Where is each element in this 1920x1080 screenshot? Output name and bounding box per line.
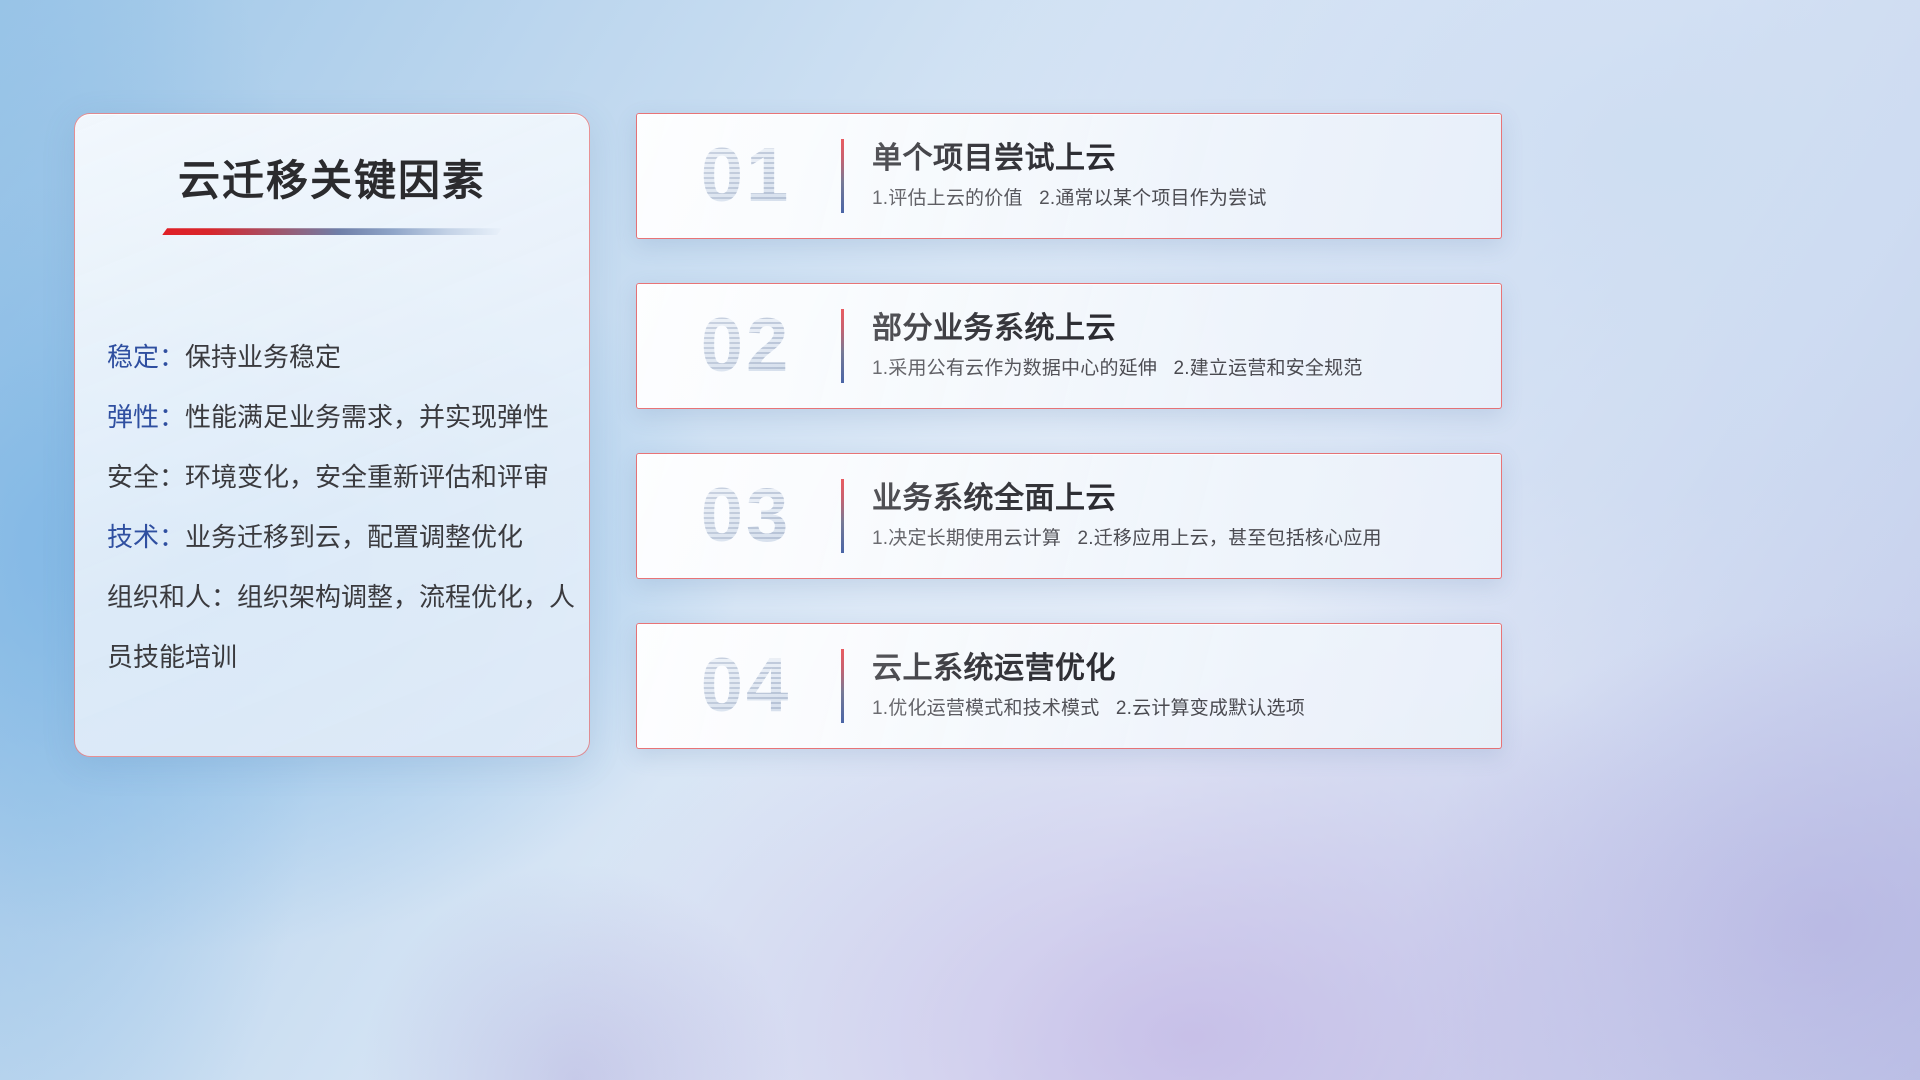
title-underline-rule [162,228,502,235]
step-card-04[interactable]: 04 云上系统运营优化 1.优化运营模式和技术模式 2.云计算变成默认选项 [636,623,1502,749]
factor-label: 组织和人： [107,582,237,612]
step-text-block: 业务系统全面上云 1.决定长期使用云计算 2.迁移应用上云，甚至包括核心应用 [872,480,1501,551]
step-title: 云上系统运营优化 [872,650,1483,688]
factor-list: 稳定：保持业务稳定 弹性：性能满足业务需求，并实现弹性 安全：环境变化，安全重新… [75,235,589,687]
step-text-block: 单个项目尝试上云 1.评估上云的价值 2.通常以某个项目作为尝试 [872,140,1501,211]
factor-label: 安全： [107,462,185,492]
step-description: 1.决定长期使用云计算 2.迁移应用上云，甚至包括核心应用 [872,527,1483,552]
step-title: 部分业务系统上云 [872,310,1483,348]
step-description: 1.优化运营模式和技术模式 2.云计算变成默认选项 [872,697,1483,722]
list-item: 稳定：保持业务稳定 [107,327,589,387]
step-title: 单个项目尝试上云 [872,140,1483,178]
factor-value: 业务迁移到云，配置调整优化 [185,522,523,552]
factor-label: 弹性： [107,402,185,432]
step-number: 01 [651,138,841,214]
step-text-block: 部分业务系统上云 1.采用公有云作为数据中心的延伸 2.建立运营和安全规范 [872,310,1501,381]
factor-value: 性能满足业务需求，并实现弹性 [185,402,549,432]
step-divider [841,649,844,723]
factor-label: 稳定： [107,342,185,372]
factor-label: 技术： [107,522,185,552]
step-number: 03 [651,478,841,554]
list-item: 组织和人：组织架构调整，流程优化，人员技能培训 [107,567,589,687]
step-number: 04 [651,648,841,724]
key-factors-panel: 云迁移关键因素 稳定：保持业务稳定 弹性：性能满足业务需求，并实现弹性 安全：环… [74,113,590,757]
list-item: 安全：环境变化，安全重新评估和评审 [107,447,589,507]
step-card-02[interactable]: 02 部分业务系统上云 1.采用公有云作为数据中心的延伸 2.建立运营和安全规范 [636,283,1502,409]
step-description: 1.采用公有云作为数据中心的延伸 2.建立运营和安全规范 [872,357,1483,382]
list-item: 技术：业务迁移到云，配置调整优化 [107,507,589,567]
step-text-block: 云上系统运营优化 1.优化运营模式和技术模式 2.云计算变成默认选项 [872,650,1501,721]
step-description: 1.评估上云的价值 2.通常以某个项目作为尝试 [872,187,1483,212]
factor-value: 保持业务稳定 [185,342,341,372]
step-card-03[interactable]: 03 业务系统全面上云 1.决定长期使用云计算 2.迁移应用上云，甚至包括核心应… [636,453,1502,579]
page-title: 云迁移关键因素 [75,114,589,205]
step-divider [841,479,844,553]
migration-steps-list: 01 单个项目尝试上云 1.评估上云的价值 2.通常以某个项目作为尝试 02 部… [636,113,1502,793]
step-title: 业务系统全面上云 [872,480,1483,518]
step-divider [841,309,844,383]
step-number: 02 [651,308,841,384]
step-card-01[interactable]: 01 单个项目尝试上云 1.评估上云的价值 2.通常以某个项目作为尝试 [636,113,1502,239]
list-item: 弹性：性能满足业务需求，并实现弹性 [107,387,589,447]
step-divider [841,139,844,213]
factor-value: 环境变化，安全重新评估和评审 [185,462,549,492]
slide-canvas: 云迁移关键因素 稳定：保持业务稳定 弹性：性能满足业务需求，并实现弹性 安全：环… [0,0,1920,1080]
